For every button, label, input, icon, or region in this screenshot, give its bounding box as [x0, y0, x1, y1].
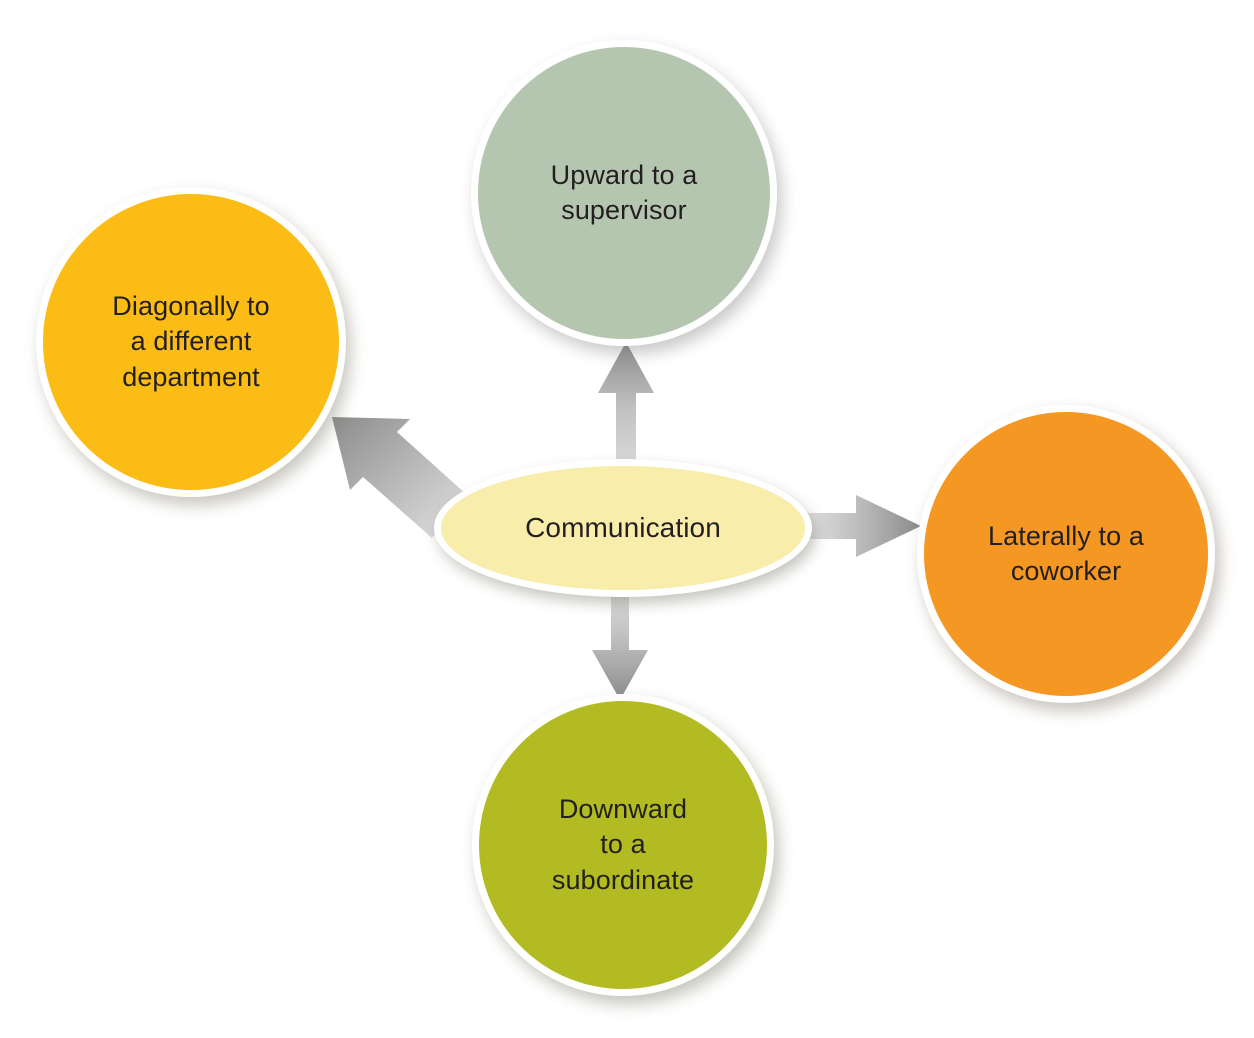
node-downward-subordinate-label: Downward to a subordinate [546, 792, 700, 897]
node-upward-supervisor-label: Upward to a supervisor [545, 158, 704, 228]
node-communication[interactable]: Communication [434, 459, 812, 597]
arrow-down-icon [592, 592, 648, 700]
arrow-up-icon [598, 342, 654, 465]
node-upward-supervisor[interactable]: Upward to a supervisor [471, 40, 777, 346]
node-diagonal-department[interactable]: Diagonally to a different department [36, 187, 346, 497]
node-diagonal-department-label: Diagonally to a different department [106, 289, 275, 394]
node-communication-label: Communication [519, 510, 727, 546]
node-lateral-coworker[interactable]: Laterally to a coworker [917, 405, 1215, 703]
node-downward-subordinate[interactable]: Downward to a subordinate [472, 694, 774, 996]
arrow-right-icon [806, 495, 921, 557]
node-lateral-coworker-label: Laterally to a coworker [982, 519, 1150, 589]
communication-directions-diagram: Communication Upward to a supervisor Dia… [0, 0, 1254, 1038]
